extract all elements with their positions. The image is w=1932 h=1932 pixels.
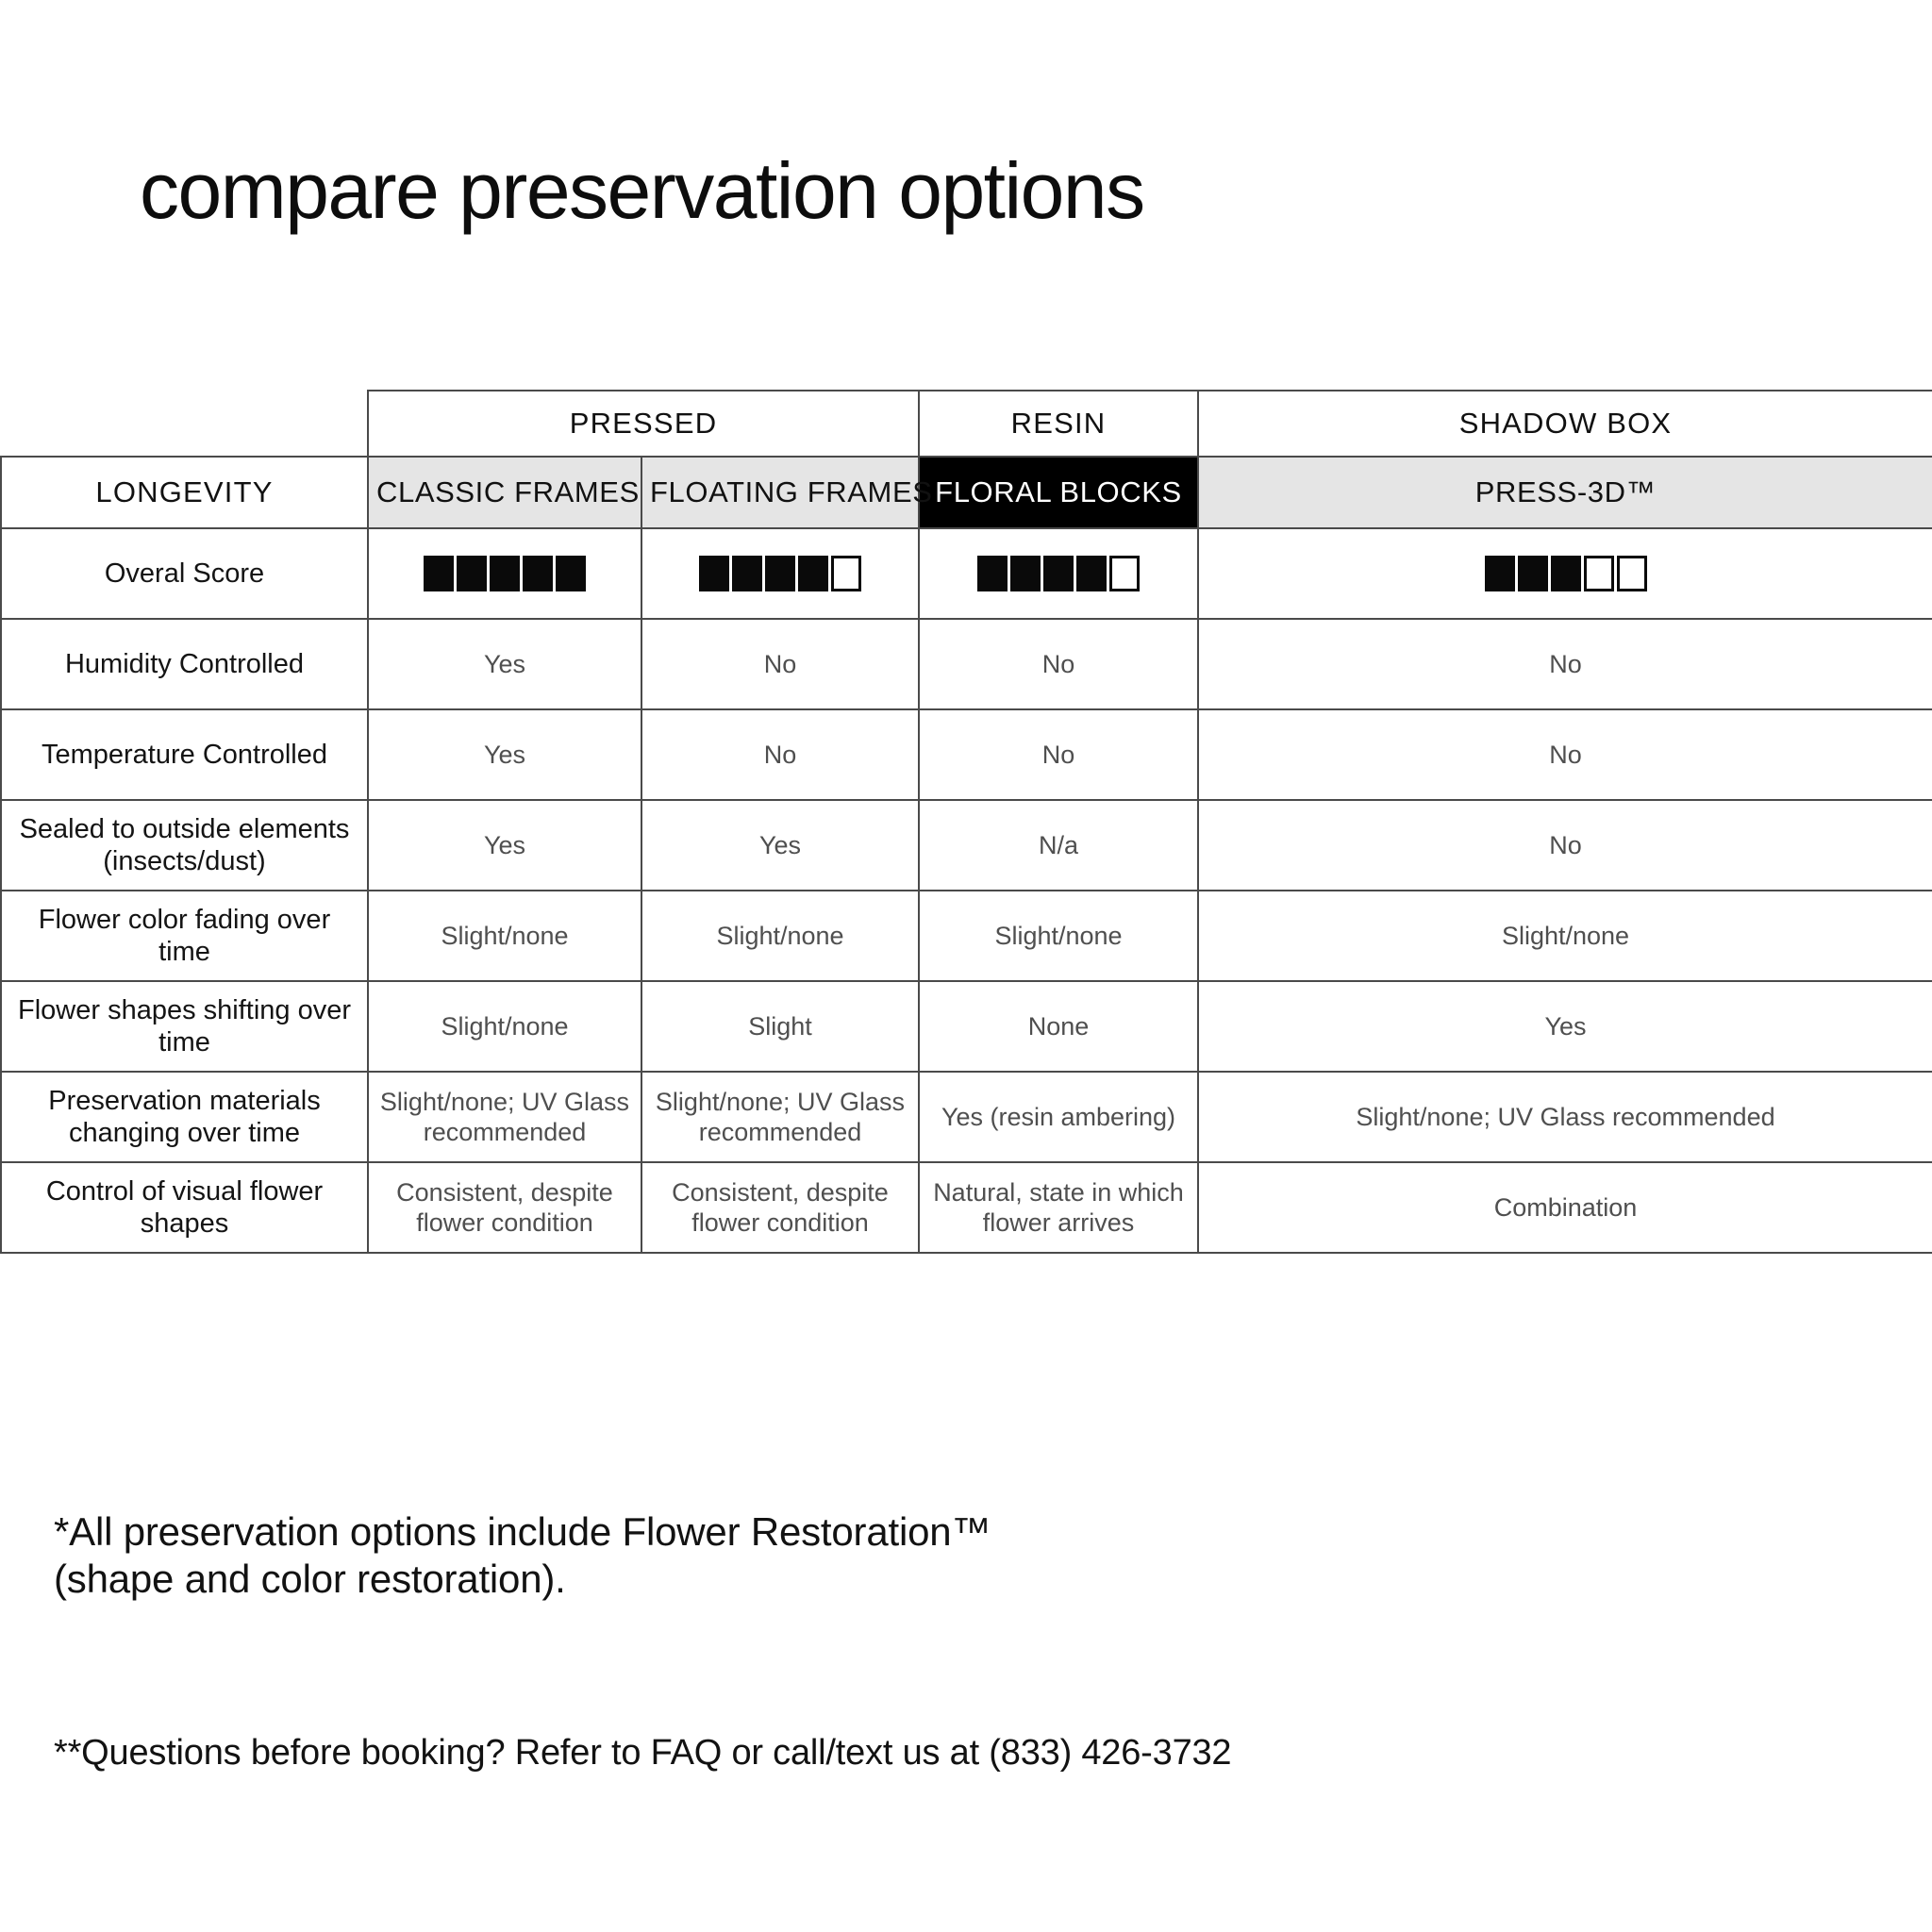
score-box-filled xyxy=(765,556,795,591)
cell-floral-blocks: Natural, state in which flower arrives xyxy=(919,1162,1198,1253)
cell-floral-blocks: N/a xyxy=(919,800,1198,891)
score-box-filled xyxy=(1485,556,1515,591)
score-box-filled xyxy=(1076,556,1107,591)
row-label: Sealed to outside elements (insects/dust… xyxy=(1,800,368,891)
group-header-shadow-box: SHADOW BOX xyxy=(1198,391,1932,457)
score-rating xyxy=(376,556,633,591)
cell-floral-blocks: No xyxy=(919,709,1198,800)
cell-floating-frames: Consistent, despite flower condition xyxy=(641,1162,919,1253)
footnote-restoration-line-1: *All preservation options include Flower… xyxy=(54,1508,991,1556)
score-rating xyxy=(927,556,1190,591)
group-header-resin: RESIN xyxy=(919,391,1198,457)
score-box-filled xyxy=(977,556,1008,591)
score-cell-floral-blocks xyxy=(919,528,1198,619)
score-cell-floating-frames xyxy=(641,528,919,619)
cell-press-3d: Combination xyxy=(1198,1162,1932,1253)
score-cell-press-3d xyxy=(1198,528,1932,619)
table-column-header-row: LONGEVITY CLASSIC FRAMES FLOATING FRAMES… xyxy=(1,457,1932,528)
cell-classic-frames: Yes xyxy=(368,619,641,709)
table-row-overall-score: Overal Score xyxy=(1,528,1932,619)
cell-press-3d: Yes xyxy=(1198,981,1932,1072)
table-row: Sealed to outside elements (insects/dust… xyxy=(1,800,1932,891)
column-header-floating-frames: FLOATING FRAMES xyxy=(641,457,919,528)
cell-floating-frames: Slight xyxy=(641,981,919,1072)
row-label-overall-score: Overal Score xyxy=(1,528,368,619)
score-box-empty xyxy=(1109,556,1140,591)
score-box-empty xyxy=(831,556,861,591)
table-row: Flower shapes shifting over timeSlight/n… xyxy=(1,981,1932,1072)
comparison-table: PRESSED RESIN SHADOW BOX LONGEVITY CLASS… xyxy=(0,390,1932,1254)
footnote-contact: **Questions before booking? Refer to FAQ… xyxy=(54,1733,1231,1774)
table-corner-label-longevity: LONGEVITY xyxy=(1,457,368,528)
row-label: Flower shapes shifting over time xyxy=(1,981,368,1072)
score-box-filled xyxy=(1010,556,1041,591)
score-rating xyxy=(650,556,910,591)
comparison-table-container: PRESSED RESIN SHADOW BOX LONGEVITY CLASS… xyxy=(0,390,1932,1254)
cell-floating-frames: Yes xyxy=(641,800,919,891)
cell-classic-frames: Slight/none xyxy=(368,981,641,1072)
score-box-empty xyxy=(1617,556,1647,591)
column-header-press-3d: PRESS-3D™ xyxy=(1198,457,1932,528)
group-header-pressed: PRESSED xyxy=(368,391,919,457)
cell-classic-frames: Slight/none; UV Glass recommended xyxy=(368,1072,641,1162)
score-box-empty xyxy=(1584,556,1614,591)
score-box-filled xyxy=(556,556,586,591)
row-label: Flower color fading over time xyxy=(1,891,368,981)
cell-press-3d: Slight/none; UV Glass recommended xyxy=(1198,1072,1932,1162)
column-header-classic-frames: CLASSIC FRAMES xyxy=(368,457,641,528)
score-box-filled xyxy=(490,556,520,591)
cell-floral-blocks: None xyxy=(919,981,1198,1072)
score-cell-classic-frames xyxy=(368,528,641,619)
score-box-filled xyxy=(1043,556,1074,591)
cell-floating-frames: No xyxy=(641,619,919,709)
cell-floating-frames: Slight/none; UV Glass recommended xyxy=(641,1072,919,1162)
score-box-filled xyxy=(798,556,828,591)
table-group-header-row: PRESSED RESIN SHADOW BOX xyxy=(1,391,1932,457)
footnote-restoration-line-2: (shape and color restoration). xyxy=(54,1556,991,1603)
cell-floating-frames: No xyxy=(641,709,919,800)
cell-floating-frames: Slight/none xyxy=(641,891,919,981)
score-box-filled xyxy=(457,556,487,591)
score-box-filled xyxy=(699,556,729,591)
cell-classic-frames: Yes xyxy=(368,800,641,891)
table-row: Control of visual flower shapesConsisten… xyxy=(1,1162,1932,1253)
row-label: Humidity Controlled xyxy=(1,619,368,709)
cell-floral-blocks: Yes (resin ambering) xyxy=(919,1072,1198,1162)
cell-press-3d: No xyxy=(1198,709,1932,800)
score-rating xyxy=(1207,556,1924,591)
score-box-filled xyxy=(424,556,454,591)
score-box-filled xyxy=(523,556,553,591)
cell-floral-blocks: No xyxy=(919,619,1198,709)
table-row: Humidity ControlledYesNoNoNo xyxy=(1,619,1932,709)
cell-classic-frames: Yes xyxy=(368,709,641,800)
table-row: Flower color fading over timeSlight/none… xyxy=(1,891,1932,981)
footnote-restoration: *All preservation options include Flower… xyxy=(54,1508,991,1602)
table-row: Preservation materials changing over tim… xyxy=(1,1072,1932,1162)
column-header-floral-blocks: FLORAL BLOCKS xyxy=(919,457,1198,528)
table-row: Temperature ControlledYesNoNoNo xyxy=(1,709,1932,800)
cell-classic-frames: Slight/none xyxy=(368,891,641,981)
cell-press-3d: No xyxy=(1198,800,1932,891)
page-title: compare preservation options xyxy=(140,151,1144,230)
cell-press-3d: Slight/none xyxy=(1198,891,1932,981)
row-label: Control of visual flower shapes xyxy=(1,1162,368,1253)
cell-floral-blocks: Slight/none xyxy=(919,891,1198,981)
group-header-spacer xyxy=(1,391,368,457)
cell-classic-frames: Consistent, despite flower condition xyxy=(368,1162,641,1253)
score-box-filled xyxy=(1518,556,1548,591)
score-box-filled xyxy=(1551,556,1581,591)
score-box-filled xyxy=(732,556,762,591)
cell-press-3d: No xyxy=(1198,619,1932,709)
row-label: Temperature Controlled xyxy=(1,709,368,800)
row-label: Preservation materials changing over tim… xyxy=(1,1072,368,1162)
